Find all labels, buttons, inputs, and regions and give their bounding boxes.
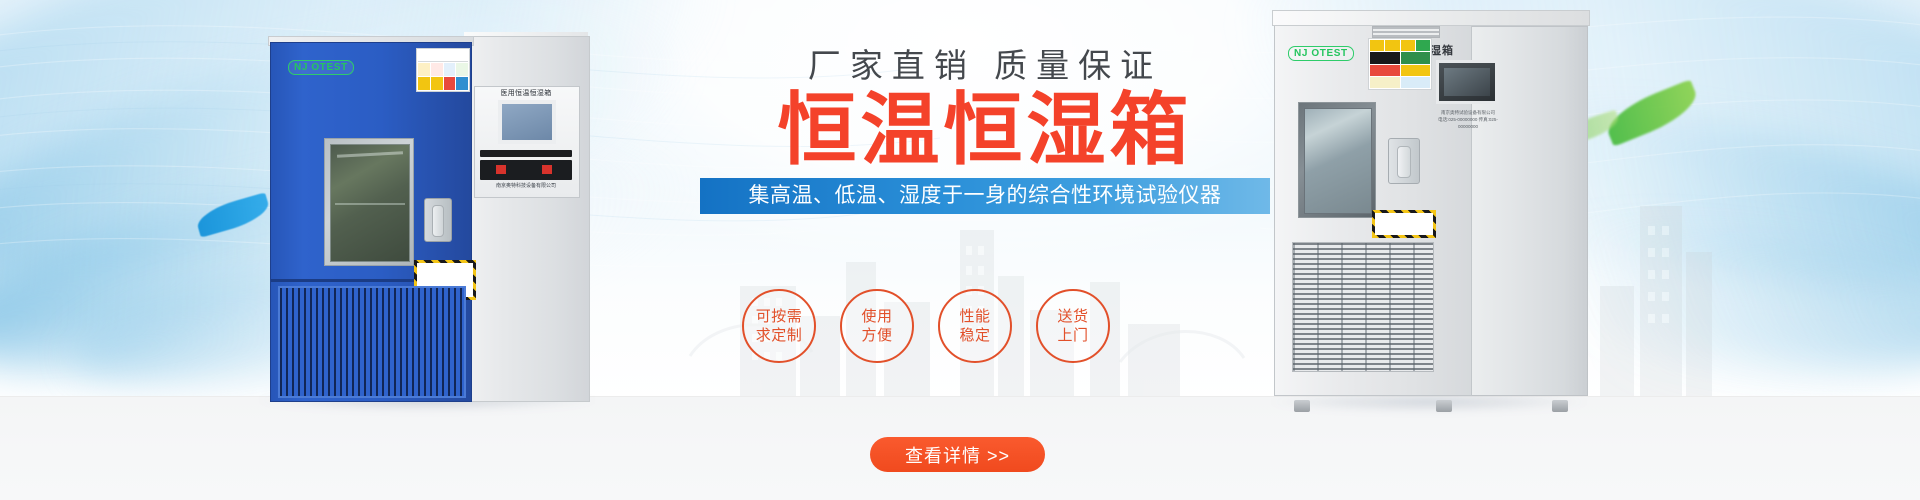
lower-vent-grille-left	[278, 286, 466, 398]
warning-cell	[431, 77, 443, 90]
warning-cell	[1401, 65, 1431, 76]
cabinet-top-cap	[1272, 10, 1590, 26]
control-button-row[interactable]	[480, 160, 572, 180]
control-lcd-screen[interactable]	[1436, 60, 1498, 104]
view-details-button[interactable]: 查看详情 >>	[870, 437, 1045, 472]
control-panel-title-left: 医用恒温恒湿箱	[476, 88, 576, 98]
feature-line-1: 性能	[959, 307, 990, 327]
feature-circle-stable[interactable]: 性能 稳定	[938, 289, 1012, 363]
indicator-light	[542, 165, 552, 174]
chamber-viewing-window	[324, 138, 414, 266]
feature-circle-list: 可按需 求定制 使用 方便 性能 稳定 送货 上门	[742, 289, 1232, 369]
control-strip	[480, 150, 572, 157]
banner-kicker: 厂家直销 质量保证	[700, 48, 1270, 84]
glass-reflection	[335, 203, 405, 205]
company-name-right: 南京奥特试验设备有限公司 电话:025-00000000 传真:025-0000…	[1434, 110, 1502, 130]
warning-label-panel	[416, 48, 470, 92]
indicator-light	[496, 165, 506, 174]
feature-line-1: 送货	[1057, 307, 1088, 327]
contact-line-right: 电话:025-00000000 传真:025-00000000	[1434, 117, 1502, 131]
product-image-left-chamber: NJ OTEST 医用恒温恒湿箱 南京奥特科技设备有限公司	[258, 28, 588, 403]
warning-cell	[444, 77, 456, 90]
warning-cell	[418, 63, 430, 76]
feature-circle-easy-use[interactable]: 使用 方便	[840, 289, 914, 363]
feature-line-2: 求定制	[756, 326, 803, 346]
feature-line-2: 稳定	[959, 326, 990, 346]
banner-copy-block: 厂家直销 质量保证 恒温恒湿箱 集高温、低温、湿度于一身的综合性环境试验仪器	[700, 48, 1270, 214]
feature-circle-delivery[interactable]: 送货 上门	[1036, 289, 1110, 363]
cabinet-leg	[1552, 400, 1568, 412]
warning-cell	[1416, 40, 1430, 51]
feature-line-2: 上门	[1057, 326, 1088, 346]
warning-cell	[1370, 40, 1384, 51]
feature-line-1: 使用	[861, 307, 892, 327]
warning-cell	[1401, 40, 1415, 51]
warning-cell	[1370, 65, 1400, 76]
banner-headline: 恒温恒湿箱	[700, 88, 1270, 172]
feature-line-1: 可按需	[756, 307, 803, 327]
company-name-left: 南京奥特科技设备有限公司	[476, 182, 576, 189]
warning-cell	[444, 63, 456, 76]
chamber-door-handle[interactable]	[424, 198, 452, 242]
warning-cell	[1401, 52, 1431, 63]
hazard-warning-sticker	[1372, 210, 1436, 238]
feature-line-2: 方便	[861, 326, 892, 346]
company-line-right: 南京奥特试验设备有限公司	[1434, 110, 1502, 117]
chamber-viewing-window	[1298, 102, 1376, 218]
brand-logo-right: NJ OTEST	[1288, 46, 1354, 61]
feature-circle-custom[interactable]: 可按需 求定制	[742, 289, 816, 363]
warning-cell	[456, 77, 468, 90]
cabinet-leg	[1436, 400, 1452, 412]
control-lcd-screen[interactable]	[498, 100, 556, 144]
cabinet-leg	[1294, 400, 1310, 412]
warning-cell	[1370, 52, 1400, 63]
warning-cell	[1385, 40, 1399, 51]
warning-label-panel	[1368, 38, 1432, 90]
banner-subtitle-bar: 集高温、低温、湿度于一身的综合性环境试验仪器	[700, 178, 1270, 214]
warning-row-icons	[418, 50, 468, 62]
warning-cell	[418, 77, 430, 90]
promo-banner: NJ OTEST 医用恒温恒湿箱 南京奥特科技设备有限公司	[0, 0, 1920, 500]
brand-logo-left: NJ OTEST	[288, 60, 354, 75]
warning-cell	[431, 63, 443, 76]
lower-vent-grille-right	[1292, 242, 1434, 372]
top-louver-vent	[1372, 26, 1440, 38]
warning-cell	[1401, 77, 1431, 88]
chamber-door-handle[interactable]	[1388, 138, 1420, 184]
window-glass	[1304, 108, 1372, 214]
product-image-right-chamber: NJ OTEST 恒温恒湿箱 南京奥特试验设备有限公司 电话:025-00000…	[1268, 10, 1588, 406]
warning-cell	[456, 63, 468, 76]
warning-cell	[1370, 77, 1400, 88]
